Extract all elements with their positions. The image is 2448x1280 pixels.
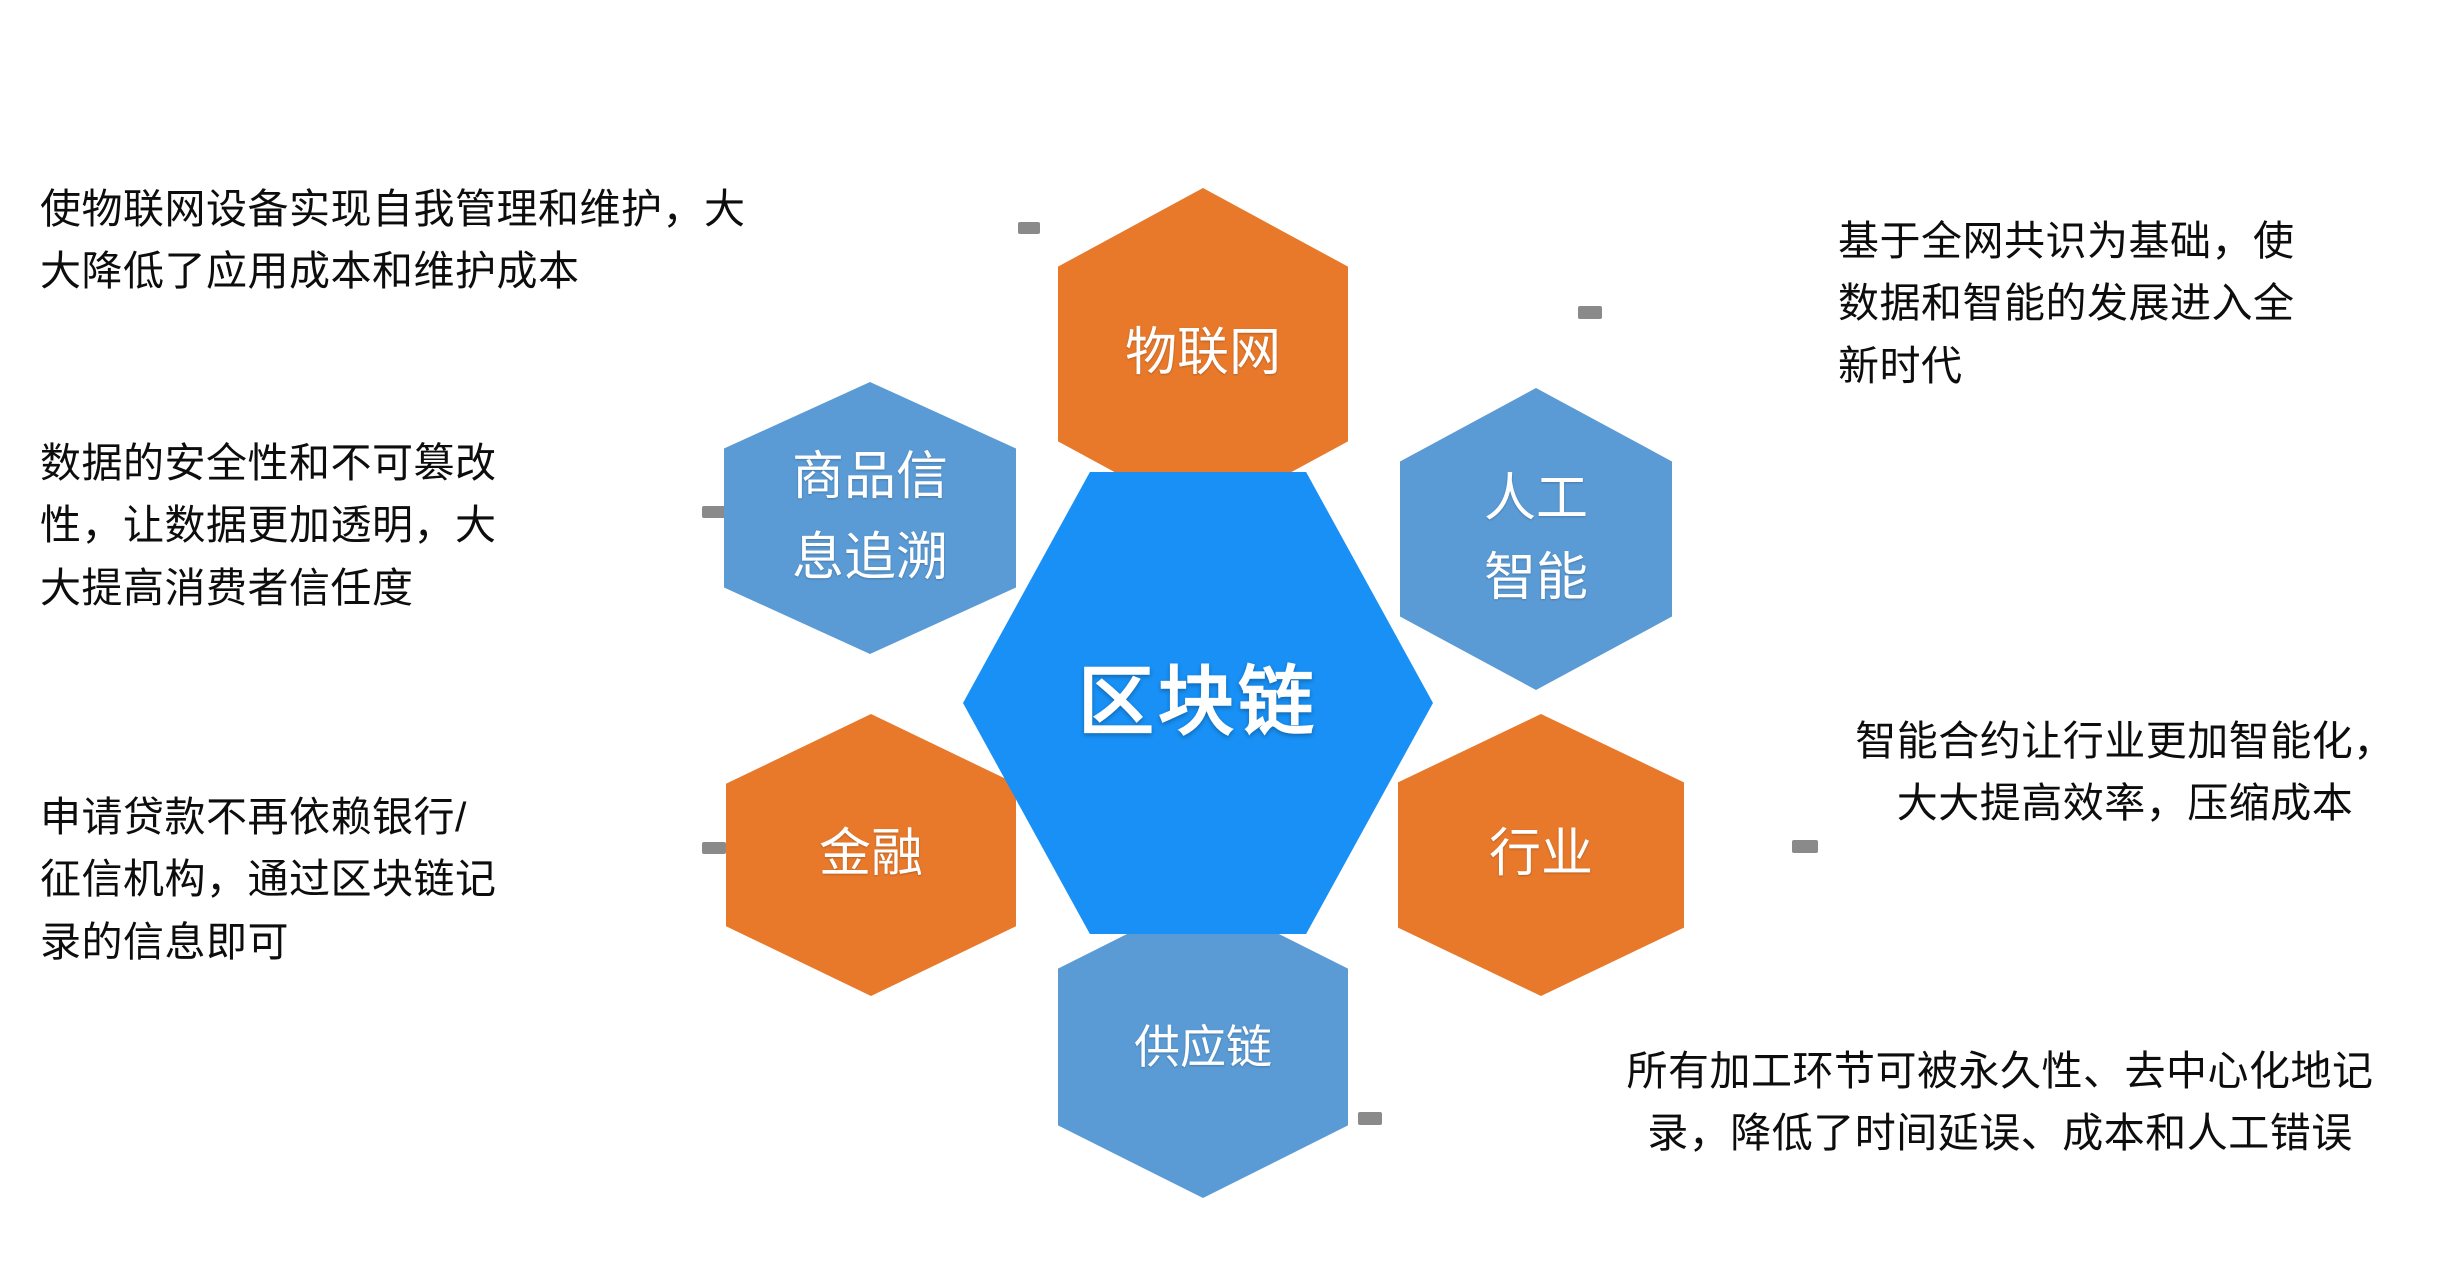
connector-stub-finance — [702, 842, 726, 854]
hex-node-ai[interactable]: 人工 智能 — [1400, 388, 1672, 690]
hex-node-blockchain-center[interactable]: 区块链 — [963, 472, 1433, 934]
hex-node-industry[interactable]: 行业 — [1398, 714, 1684, 996]
hex-label-supply: 供应链 — [1134, 1014, 1272, 1081]
annotation-supply-description: 所有加工环节可被永久性、去中心化地记 录，降低了时间延误、成本和人工错误 — [1570, 1040, 2430, 1165]
connector-stub-supply-b — [1358, 1112, 1382, 1125]
hex-label-finance: 金融 — [819, 817, 923, 892]
connector-stub-goods — [702, 506, 726, 518]
diagram-canvas: 使物联网设备实现自我管理和维护，大 大降低了应用成本和维护成本 数据的安全性和不… — [0, 0, 2448, 1280]
hex-label-blockchain: 区块链 — [1078, 648, 1318, 758]
hex-label-iot: 物联网 — [1125, 316, 1281, 391]
connector-stub-iot — [1018, 222, 1040, 234]
hex-node-supply[interactable]: 供应链 — [1058, 896, 1348, 1198]
annotation-industry-description: 智能合约让行业更加智能化， 大大提高效率，压缩成本 — [1825, 710, 2425, 835]
annotation-goods-description: 数据的安全性和不可篡改 性，让数据更加透明，大 大提高消费者信任度 — [40, 432, 620, 619]
annotation-ai-description: 基于全网共识为基础，使 数据和智能的发展进入全 新时代 — [1838, 210, 2408, 397]
hex-label-industry: 行业 — [1489, 817, 1593, 892]
connector-stub-industry — [1792, 840, 1818, 853]
hex-label-goods: 商品信 息追溯 — [792, 437, 948, 598]
annotation-finance-description: 申请贷款不再依赖银行/ 征信机构，通过区块链记 录的信息即可 — [40, 786, 620, 973]
connector-stub-ai — [1578, 306, 1602, 319]
annotation-iot-description: 使物联网设备实现自我管理和维护，大 大降低了应用成本和维护成本 — [40, 178, 870, 303]
hex-label-ai: 人工 智能 — [1484, 460, 1588, 618]
hex-node-iot[interactable]: 物联网 — [1058, 188, 1348, 520]
